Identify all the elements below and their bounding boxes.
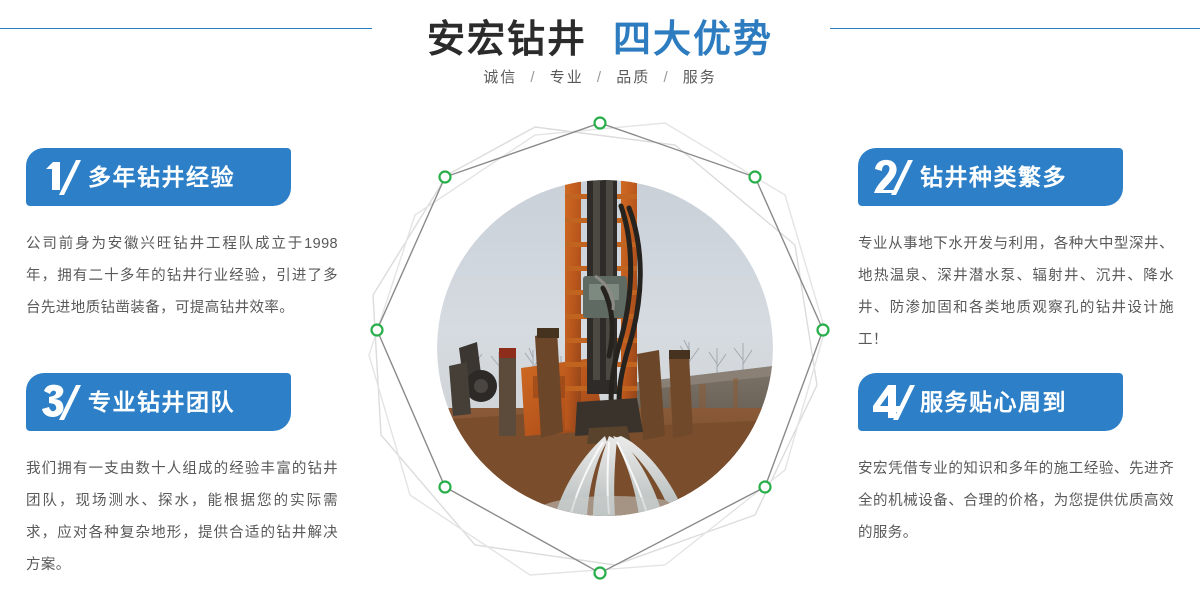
subtitle-separator-0: / bbox=[530, 69, 536, 86]
center-artwork bbox=[355, 105, 845, 595]
page-title-accent: 四大优势 bbox=[613, 19, 773, 61]
vertex-dot-right bbox=[818, 325, 829, 336]
number-four-icon bbox=[872, 382, 918, 422]
vertex-dot-top bbox=[595, 118, 606, 129]
feature-card-1: 多年钻井经验 公司前身为安徽兴旺钻井工程队成立于1998年，拥有二十多年的钻井行… bbox=[26, 148, 356, 324]
number-three-icon bbox=[40, 382, 86, 422]
drilling-rig-photo bbox=[437, 180, 773, 516]
vertex-dot-left bbox=[372, 325, 383, 336]
number-two-icon bbox=[872, 157, 918, 197]
feature-body-4: 安宏凭借专业的知识和多年的施工经验、先进齐全的机械设备、合理的价格，为您提供优质… bbox=[858, 453, 1174, 549]
feature-title-4: 服务贴心周到 bbox=[920, 391, 1067, 414]
subtitle-item-0: 诚信 bbox=[483, 69, 517, 86]
subtitle-item-1: 专业 bbox=[550, 69, 584, 86]
feature-badge-2[interactable]: 钻井种类繁多 bbox=[858, 148, 1123, 206]
feature-body-1: 公司前身为安徽兴旺钻井工程队成立于1998年，拥有二十多年的钻井行业经验，引进了… bbox=[26, 228, 338, 324]
feature-badge-4[interactable]: 服务贴心周到 bbox=[858, 373, 1123, 431]
feature-card-2: 钻井种类繁多 专业从事地下水开发与利用，各种大中型深井、地热温泉、深井潜水泵、辐… bbox=[858, 148, 1188, 356]
vertex-dot-bottom bbox=[595, 568, 606, 579]
feature-title-1: 多年钻井经验 bbox=[88, 166, 235, 189]
feature-badge-1[interactable]: 多年钻井经验 bbox=[26, 148, 291, 206]
feature-badge-3[interactable]: 专业钻井团队 bbox=[26, 373, 291, 431]
feature-title-2: 钻井种类繁多 bbox=[920, 166, 1067, 189]
feature-card-4: 服务贴心周到 安宏凭借专业的知识和多年的施工经验、先进齐全的机械设备、合理的价格… bbox=[858, 373, 1188, 549]
page-subtitle: 诚信 / 专业 / 品质 / 服务 bbox=[0, 66, 1200, 87]
feature-card-3: 专业钻井团队 我们拥有一支由数十人组成的经验丰富的钻井团队，现场测水、探水，能根… bbox=[26, 373, 356, 581]
subtitle-separator-1: / bbox=[597, 69, 603, 86]
subtitle-separator-2: / bbox=[663, 69, 669, 86]
page-title-main: 安宏钻井 bbox=[427, 19, 587, 61]
feature-body-3: 我们拥有一支由数十人组成的经验丰富的钻井团队，现场测水、探水，能根据您的实际需求… bbox=[26, 453, 338, 581]
feature-title-3: 专业钻井团队 bbox=[88, 391, 235, 414]
subtitle-item-3: 服务 bbox=[683, 69, 717, 86]
number-one-icon bbox=[40, 157, 86, 197]
page-title: 安宏钻井四大优势 bbox=[0, 8, 1200, 63]
subtitle-item-2: 品质 bbox=[616, 69, 650, 86]
page-header: 安宏钻井四大优势 诚信 / 专业 / 品质 / 服务 bbox=[0, 0, 1200, 110]
feature-body-2: 专业从事地下水开发与利用，各种大中型深井、地热温泉、深井潜水泵、辐射井、沉井、降… bbox=[858, 228, 1174, 356]
